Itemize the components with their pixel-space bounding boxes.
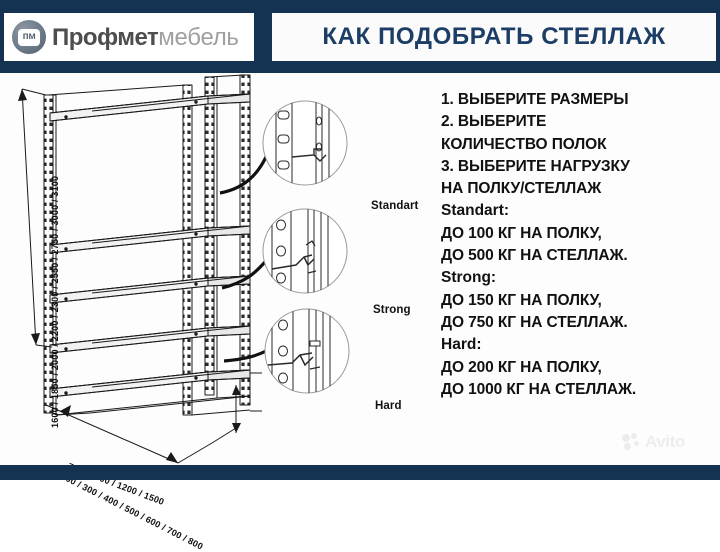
dimension-label-width: 200 / 300 / 400 / 500 / 600 / 700 / 800 [59, 471, 204, 552]
instruction-line: 3. ВЫБЕРИТЕ НАГРУЗКУ [441, 156, 713, 178]
instructions-block: 1. ВЫБЕРИТЕ РАЗМЕРЫ 2. ВЫБЕРИТЕ КОЛИЧЕСТ… [441, 89, 713, 401]
instruction-line: ДО 500 КГ НА СТЕЛЛАЖ. [441, 245, 713, 267]
avito-watermark: Avito [622, 432, 685, 452]
header-bar: пм Профметмебель КАК ПОДОБРАТЬ СТЕЛЛАЖ [0, 0, 720, 73]
instruction-line: НА ПОЛКУ/СТЕЛЛАЖ [441, 178, 713, 200]
shelving-diagram: Standart Strong Hard 1600 / 1850 / 2000 … [0, 73, 430, 465]
page-title: КАК ПОДОБРАТЬ СТЕЛЛАЖ [322, 23, 665, 51]
callout-hard-detail [262, 309, 349, 393]
dimension-label-height: 1600 / 1850 / 2000 / 2200 / 2300 / 2550 … [50, 208, 60, 428]
instruction-line: ДО 750 КГ НА СТЕЛЛАЖ. [441, 312, 713, 334]
instruction-line: 2. ВЫБЕРИТЕ [441, 111, 713, 133]
instruction-line: ДО 1000 КГ НА СТЕЛЛАЖ. [441, 379, 713, 401]
instruction-line: 1. ВЫБЕРИТЕ РАЗМЕРЫ [441, 89, 713, 111]
brand-name: Профметмебель [52, 25, 239, 51]
instruction-line: КОЛИЧЕСТВО ПОЛОК [441, 134, 713, 156]
callout-label-hard: Hard [375, 400, 402, 412]
brand-name-light: мебель [158, 24, 238, 51]
logo-monogram: пм [18, 29, 40, 46]
watermark-text: Avito [645, 432, 685, 452]
load-class-strong-heading: Strong: [441, 267, 713, 289]
brand-logo-plate: пм Профметмебель [4, 13, 254, 61]
poster-canvas: пм Профметмебель КАК ПОДОБРАТЬ СТЕЛЛАЖ [0, 0, 720, 480]
avito-logo-icon [622, 433, 642, 451]
brand-name-bold: Профмет [52, 24, 158, 51]
company-logo-icon: пм [12, 20, 46, 54]
load-class-hard-heading: Hard: [441, 334, 713, 356]
callout-label-strong: Strong [373, 304, 411, 316]
callout-standart-detail [263, 101, 347, 185]
callout-label-standart: Standart [371, 200, 418, 212]
instruction-line: ДО 150 КГ НА ПОЛКУ, [441, 290, 713, 312]
footer-bar [0, 465, 720, 480]
load-class-standart-heading: Standart: [441, 200, 713, 222]
title-plate: КАК ПОДОБРАТЬ СТЕЛЛАЖ [272, 13, 716, 61]
instruction-line: ДО 200 КГ НА ПОЛКУ, [441, 357, 713, 379]
callout-strong-detail [263, 209, 347, 293]
instruction-line: ДО 100 КГ НА ПОЛКУ, [441, 223, 713, 245]
